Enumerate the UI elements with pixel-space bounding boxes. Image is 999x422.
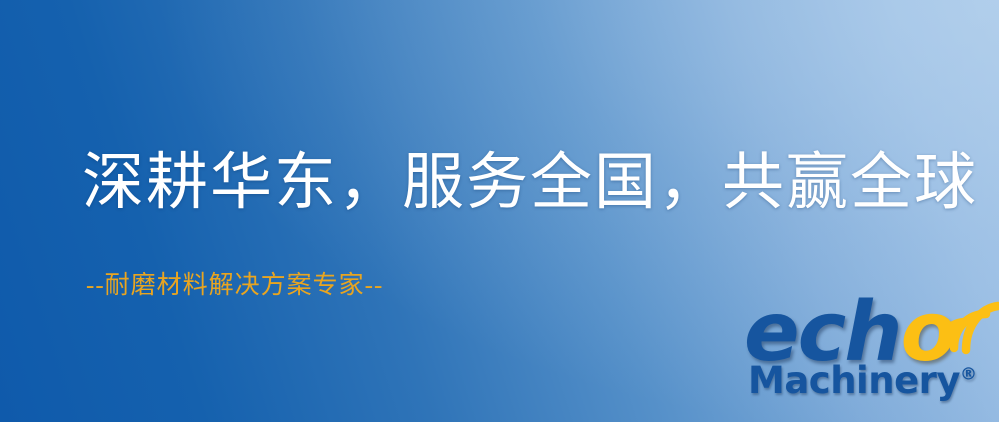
banner-headline: 深耕华东，服务全国，共赢全球 bbox=[82, 148, 978, 219]
banner-subtitle: --耐磨材料解决方案专家-- bbox=[86, 265, 383, 301]
logo-mark: echo Machinery® bbox=[742, 296, 992, 422]
logo-subword-machinery: Machinery® bbox=[748, 362, 977, 399]
logo-subword-text: Machinery bbox=[748, 359, 960, 402]
promo-banner: 深耕华东，服务全国，共赢全球 --耐磨材料解决方案专家-- echo Machi… bbox=[0, 0, 999, 422]
echo-machinery-logo: echo Machinery® bbox=[742, 296, 992, 422]
signal-arcs-icon bbox=[928, 290, 999, 356]
registered-trademark-icon: ® bbox=[960, 365, 977, 385]
